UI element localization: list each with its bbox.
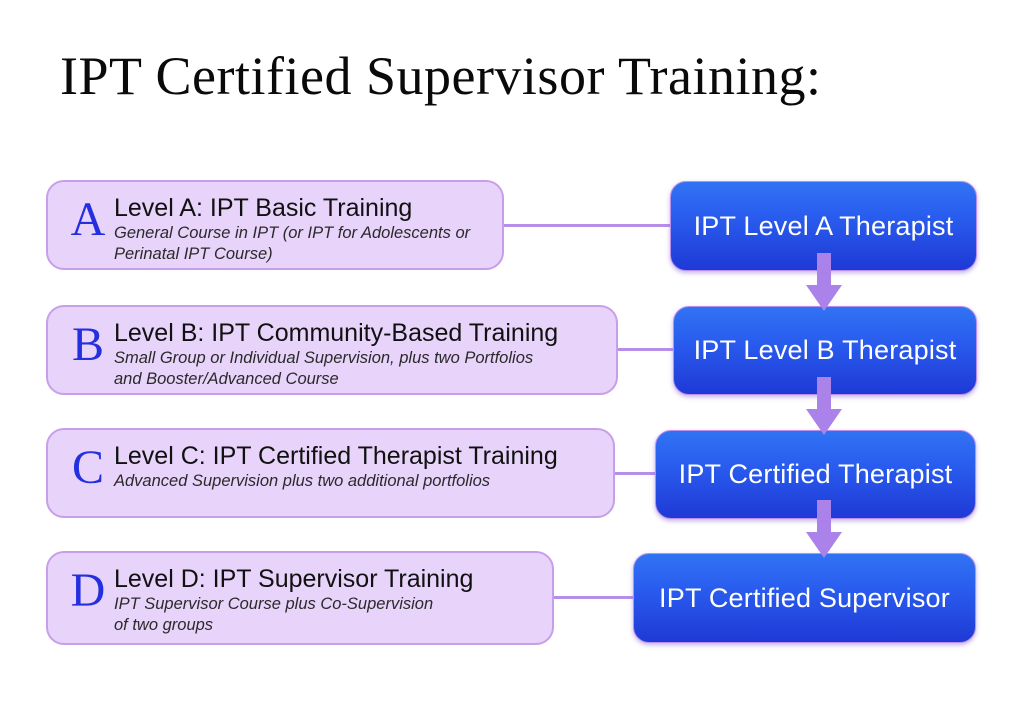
- level-title-b: Level B: IPT Community-Based Training: [114, 319, 602, 347]
- diagram-canvas: IPT Certified Supervisor Training: A Lev…: [0, 0, 1024, 706]
- level-letter-c: C: [62, 444, 114, 492]
- level-letter-d: D: [62, 567, 114, 615]
- level-text-a: Level A: IPT Basic Training General Cour…: [114, 192, 488, 264]
- level-card-c[interactable]: C Level C: IPT Certified Therapist Train…: [46, 428, 615, 518]
- level-subtitle-b: Small Group or Individual Supervision, p…: [114, 348, 602, 389]
- level-card-a[interactable]: A Level A: IPT Basic Training General Co…: [46, 180, 504, 270]
- connector-line-b: [616, 348, 676, 351]
- arrow-down-b-to-c: [802, 377, 846, 437]
- level-letter-a: A: [62, 196, 114, 244]
- level-title-d: Level D: IPT Supervisor Training: [114, 565, 538, 593]
- level-subtitle-c: Advanced Supervision plus two additional…: [114, 471, 599, 492]
- connector-line-d: [552, 596, 636, 599]
- arrow-down-c-to-d: [802, 500, 846, 560]
- level-card-d[interactable]: D Level D: IPT Supervisor Training IPT S…: [46, 551, 554, 645]
- level-card-b[interactable]: B Level B: IPT Community-Based Training …: [46, 305, 618, 395]
- level-subtitle-a: General Course in IPT (or IPT for Adoles…: [114, 223, 488, 264]
- connector-line-a: [501, 224, 673, 227]
- level-text-d: Level D: IPT Supervisor Training IPT Sup…: [114, 563, 538, 635]
- level-letter-b: B: [62, 321, 114, 369]
- level-title-a: Level A: IPT Basic Training: [114, 194, 488, 222]
- level-text-b: Level B: IPT Community-Based Training Sm…: [114, 317, 602, 389]
- page-title: IPT Certified Supervisor Training:: [60, 48, 822, 105]
- level-subtitle-d: IPT Supervisor Course plus Co-Supervisio…: [114, 594, 538, 635]
- arrow-down-a-to-b: [802, 253, 846, 313]
- role-card-certified-supervisor[interactable]: IPT Certified Supervisor: [633, 553, 976, 643]
- level-title-c: Level C: IPT Certified Therapist Trainin…: [114, 442, 599, 470]
- connector-line-c: [613, 472, 658, 475]
- level-text-c: Level C: IPT Certified Therapist Trainin…: [114, 440, 599, 492]
